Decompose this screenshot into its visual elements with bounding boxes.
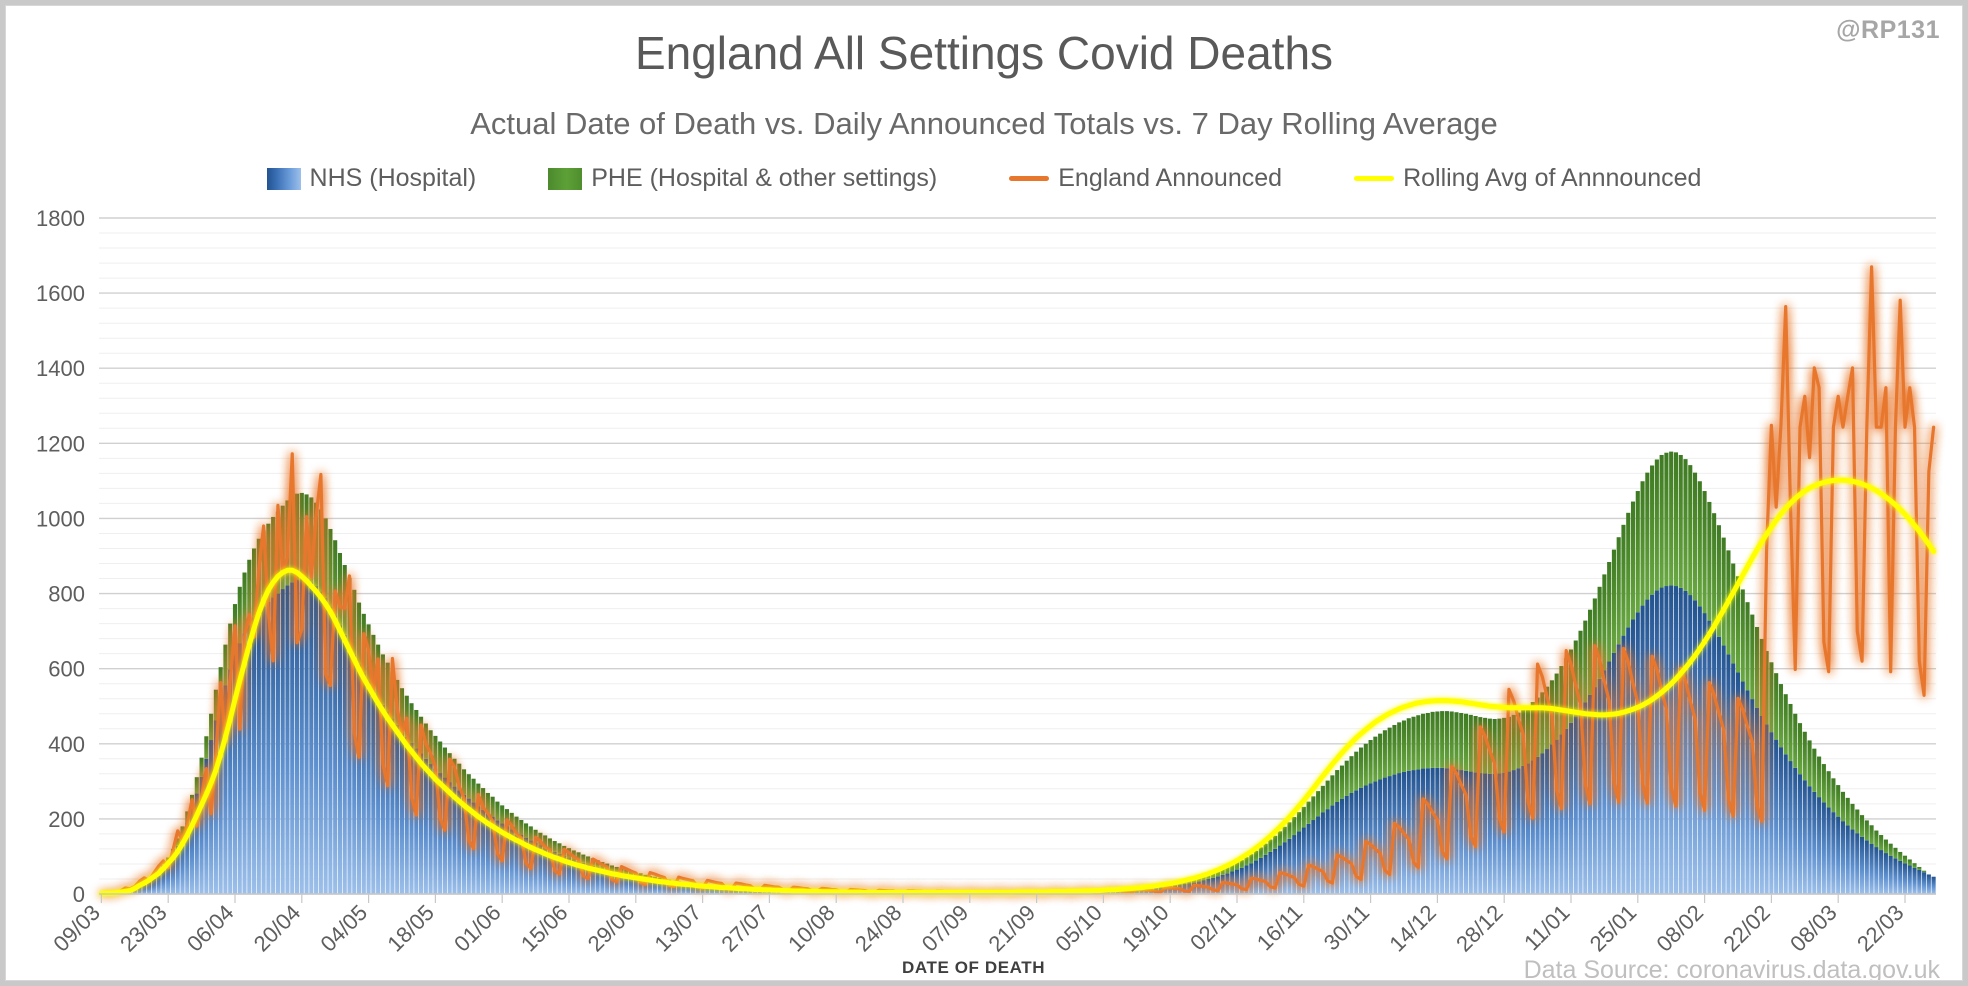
bar-phe [1903, 856, 1907, 864]
bar-phe [1459, 713, 1463, 770]
bar-phe [610, 865, 614, 871]
bar-phe [1626, 513, 1630, 628]
bar-phe [1779, 684, 1783, 747]
bar-phe [1364, 744, 1368, 786]
bar-phe [1922, 871, 1926, 873]
bar-phe [1860, 815, 1864, 837]
bar-nhs [1311, 820, 1315, 894]
bar-phe [1321, 786, 1325, 813]
x-tick-label: 28/12 [1451, 900, 1508, 957]
bar-nhs [1440, 768, 1444, 894]
bar-phe [1450, 711, 1454, 768]
x-tick-label: 29/06 [583, 900, 640, 957]
bar-phe [1855, 810, 1859, 834]
bar-phe [1870, 825, 1874, 843]
bar-phe [223, 645, 227, 686]
bar-nhs [1765, 724, 1769, 894]
bar-nhs [147, 882, 151, 894]
bar-phe [1908, 859, 1912, 865]
bar-nhs [1574, 716, 1578, 894]
bar-nhs [309, 582, 313, 894]
bar-phe [386, 663, 390, 712]
data-source-credit: Data Source: coronavirus.data.gov.uk [1524, 956, 1940, 980]
bar-phe [1340, 766, 1344, 799]
bar-nhs [1870, 844, 1874, 894]
bar-phe [1612, 550, 1616, 653]
bar-phe [1316, 791, 1320, 816]
bar-nhs [343, 635, 347, 894]
bar-nhs [281, 589, 285, 894]
bar-nhs [1798, 774, 1802, 894]
bar-phe [1469, 715, 1473, 772]
bar-phe [1750, 615, 1754, 700]
bar-phe [1774, 673, 1778, 739]
bar-phe [1703, 491, 1707, 613]
bar-nhs [1879, 850, 1883, 894]
bar-phe [1822, 764, 1826, 802]
bar-phe [529, 826, 533, 840]
bar-phe [1617, 537, 1621, 644]
bar-nhs [1598, 679, 1602, 894]
bar-phe [1583, 621, 1587, 703]
bar-nhs [1307, 824, 1311, 894]
bar-phe [204, 736, 208, 759]
bar-phe [1369, 740, 1373, 783]
bar-nhs [1788, 761, 1792, 894]
bar-phe [1411, 717, 1415, 770]
bar-nhs [1932, 877, 1936, 894]
bar-phe [1793, 714, 1797, 768]
x-tick-label: 20/04 [249, 900, 306, 957]
y-tick-label: 1400 [36, 356, 85, 381]
bar-phe [1669, 452, 1673, 586]
x-tick-label: 16/11 [1252, 900, 1307, 955]
bar-nhs [1369, 783, 1373, 894]
bar-nhs [1569, 723, 1573, 894]
bar-phe [1741, 589, 1745, 681]
bar-nhs [1516, 768, 1520, 894]
bar-nhs [1717, 637, 1721, 894]
bar-phe [1912, 863, 1916, 868]
bar-phe [1249, 854, 1253, 863]
bar-phe [495, 802, 499, 821]
bar-nhs [1884, 853, 1888, 894]
bar-phe [1297, 812, 1301, 831]
bar-nhs [1407, 771, 1411, 894]
bar-phe [1254, 851, 1258, 861]
bar-phe [1788, 704, 1792, 761]
bar-phe [1326, 781, 1330, 810]
bar-phe [414, 710, 418, 748]
bar-nhs [1488, 774, 1492, 894]
y-tick-label: 1800 [36, 206, 85, 231]
bar-phe [1769, 662, 1773, 732]
bar-phe [338, 553, 342, 625]
bar-nhs [257, 612, 261, 894]
bar-nhs [1908, 865, 1912, 894]
bar-phe [1407, 718, 1411, 771]
bar-nhs [1283, 842, 1287, 894]
x-tick-label: 01/06 [449, 900, 506, 957]
bar-phe [581, 855, 585, 863]
bar-phe [1812, 749, 1816, 792]
bar-nhs [1364, 785, 1368, 894]
y-tick-label: 800 [48, 582, 85, 607]
bar-phe [1392, 725, 1396, 775]
bar-phe [1311, 796, 1315, 820]
bar-phe [409, 703, 413, 743]
bar-nhs [367, 681, 371, 894]
chart-svg: 02004006008001000120014001600180009/0323… [6, 6, 1962, 980]
bar-phe [1383, 730, 1387, 777]
bar-nhs [1373, 781, 1377, 894]
bar-nhs [1846, 825, 1850, 894]
bar-nhs [1769, 732, 1773, 894]
bar-phe [1440, 711, 1444, 768]
bar-phe [1345, 761, 1349, 796]
bar-phe [1421, 714, 1425, 769]
bar-nhs [1383, 778, 1387, 894]
bar-phe [1898, 852, 1902, 861]
bar-phe [1874, 831, 1878, 848]
bar-phe [1831, 778, 1835, 812]
bar-nhs [266, 602, 270, 894]
y-tick-label: 1200 [36, 431, 85, 456]
bar-nhs [1841, 821, 1845, 894]
bar-phe [1335, 770, 1339, 802]
x-tick-label: 27/07 [716, 900, 773, 957]
bar-nhs [347, 645, 351, 894]
bar-phe [1707, 502, 1711, 621]
bar-phe [1641, 481, 1645, 605]
bar-phe [1803, 732, 1807, 780]
bar-nhs [1235, 870, 1239, 894]
bar-nhs [424, 759, 428, 894]
bar-phe [1688, 465, 1692, 595]
bar-nhs [1335, 802, 1339, 894]
bar-phe [586, 856, 590, 864]
bar-phe [1435, 711, 1439, 767]
bar-phe [1850, 804, 1854, 830]
bar-phe [1307, 802, 1311, 824]
bar-nhs [1521, 766, 1525, 894]
bar-phe [1497, 719, 1501, 774]
bar-nhs [252, 618, 256, 894]
bar-nhs [390, 718, 394, 894]
bar-nhs [1712, 628, 1716, 894]
bar-phe [1798, 723, 1802, 774]
bar-phe [472, 779, 476, 803]
bar-nhs [1454, 769, 1458, 894]
bar-phe [1879, 835, 1883, 850]
bar-phe [328, 529, 332, 606]
bar-nhs [1793, 768, 1797, 894]
bar-phe [1431, 712, 1435, 768]
bar-phe [1645, 473, 1649, 600]
bar-nhs [1340, 799, 1344, 894]
bar-phe [1817, 757, 1821, 798]
bar-nhs [1855, 833, 1859, 894]
bar-phe [1745, 602, 1749, 690]
chart-canvas: 02004006008001000120014001600180009/0323… [6, 6, 1962, 980]
bar-phe [1264, 844, 1268, 855]
bar-phe [1474, 716, 1478, 772]
bar-phe [1683, 459, 1687, 591]
bar-phe [1846, 798, 1850, 825]
bar-nhs [1564, 729, 1568, 894]
bar-nhs [1836, 817, 1840, 894]
bar-nhs [1278, 846, 1282, 894]
x-tick-label: 11/01 [1519, 900, 1574, 955]
bar-nhs [152, 879, 156, 894]
bar-phe [1292, 817, 1296, 835]
bar-nhs [1545, 749, 1549, 894]
bar-nhs [1321, 813, 1325, 895]
bar-nhs [1411, 770, 1415, 894]
bar-phe [1526, 706, 1530, 763]
bar-nhs [319, 591, 323, 894]
x-tick-label: 08/03 [1785, 900, 1842, 957]
bar-phe [1607, 562, 1611, 662]
bar-nhs [1779, 747, 1783, 894]
bar-nhs [1917, 870, 1921, 894]
bar-nhs [285, 585, 289, 894]
bar-phe [1784, 694, 1788, 754]
bar-phe [1712, 513, 1716, 628]
bar-phe [1302, 807, 1306, 828]
x-tick-label: 21/09 [984, 900, 1041, 957]
bar-nhs [1397, 773, 1401, 894]
bar-nhs [371, 690, 375, 894]
bar-nhs [219, 702, 223, 894]
bar-nhs [1808, 786, 1812, 894]
bar-phe [1674, 452, 1678, 586]
bar-nhs [1292, 835, 1296, 894]
bar-nhs [1850, 829, 1854, 894]
bar-phe [357, 603, 361, 665]
x-tick-label: 19/10 [1117, 900, 1174, 957]
bar-phe [1512, 715, 1516, 770]
y-tick-label: 600 [48, 657, 85, 682]
bar-nhs [1197, 881, 1201, 894]
bar-nhs [1316, 816, 1320, 894]
bar-phe [1602, 574, 1606, 670]
x-tick-label: 09/03 [48, 900, 105, 957]
bar-phe [1865, 820, 1869, 840]
bar-phe [1755, 627, 1759, 708]
bar-phe [1636, 491, 1640, 612]
bar-nhs [452, 787, 456, 894]
x-tick-label: 10/08 [783, 900, 840, 957]
bar-phe [1349, 756, 1353, 793]
bar-phe [1808, 740, 1812, 786]
bar-phe [1650, 465, 1654, 594]
bar-phe [1836, 785, 1840, 817]
bar-phe [1273, 836, 1277, 849]
y-axis-labels: 020040060080010001200140016001800 [36, 206, 85, 907]
bar-phe [1378, 734, 1382, 780]
bar-nhs [1259, 858, 1263, 894]
bar-phe [1388, 728, 1392, 776]
bar-nhs [1898, 861, 1902, 894]
x-tick-label: 25/01 [1585, 900, 1642, 957]
bar-phe [500, 805, 504, 823]
x-tick-label: 15/06 [516, 900, 573, 957]
bar-phe [1283, 827, 1287, 842]
bar-nhs [290, 582, 294, 894]
x-tick-label: 23/03 [115, 900, 172, 957]
bar-nhs [305, 580, 309, 894]
x-tick-label: 30/11 [1319, 900, 1374, 955]
bar-phe [1244, 857, 1248, 865]
bar-phe [1917, 867, 1921, 870]
bar-nhs [276, 594, 280, 894]
bar-nhs [395, 725, 399, 894]
bar-phe [1287, 822, 1291, 839]
bar-nhs [1803, 780, 1807, 894]
x-tick-label: 24/08 [850, 900, 907, 957]
bar-nhs [1631, 619, 1635, 894]
bar-nhs [1827, 807, 1831, 894]
bar-phe [1693, 473, 1697, 601]
bar-nhs [1784, 754, 1788, 894]
bar-nhs [1483, 773, 1487, 894]
bar-nhs [1822, 802, 1826, 894]
x-axis-title: DATE OF DEATH [902, 958, 1045, 978]
bar-phe [1722, 538, 1726, 646]
bar-nhs [1602, 670, 1606, 894]
bar-nhs [1378, 779, 1382, 894]
bar-phe [1330, 775, 1334, 805]
bar-phe [1698, 481, 1702, 606]
y-tick-label: 400 [48, 732, 85, 757]
bar-nhs [338, 625, 342, 894]
bar-nhs [1774, 740, 1778, 894]
bar-nhs [1889, 856, 1893, 894]
bar-phe [1464, 714, 1468, 771]
bar-nhs [1927, 874, 1931, 894]
bar-phe [519, 820, 523, 835]
bar-phe [1588, 610, 1592, 695]
bar-nhs [1812, 792, 1816, 894]
x-tick-label: 22/02 [1718, 900, 1775, 957]
x-tick-label: 06/04 [182, 900, 239, 957]
bar-nhs [1750, 699, 1754, 894]
bar-phe [1445, 711, 1449, 768]
bar-phe [1268, 840, 1272, 852]
x-tick-label: 05/10 [1050, 900, 1107, 957]
bar-nhs [1831, 812, 1835, 894]
bar-nhs [1860, 837, 1864, 894]
bar-nhs [1893, 858, 1897, 894]
bar-nhs [247, 625, 251, 894]
bar-nhs [429, 764, 433, 894]
bar-nhs [1426, 768, 1430, 894]
bar-phe [1426, 713, 1430, 768]
bar-phe [238, 587, 242, 643]
y-tick-label: 1600 [36, 281, 85, 306]
bar-phe [1621, 525, 1625, 636]
bar-phe [443, 748, 447, 778]
bar-nhs [1874, 847, 1878, 894]
bar-phe [1373, 737, 1377, 782]
bar-nhs [1912, 868, 1916, 894]
bar-phe [1402, 720, 1406, 771]
bar-phe [1655, 459, 1659, 590]
bar-nhs [262, 606, 266, 894]
bar-nhs [209, 740, 213, 894]
bar-nhs [1922, 872, 1926, 894]
bar-phe [1884, 840, 1888, 854]
bar-phe [1827, 771, 1831, 807]
bar-nhs [1345, 796, 1349, 894]
bar-phe [195, 777, 199, 793]
bar-phe [1664, 453, 1668, 586]
bar-nhs [1865, 840, 1869, 894]
y-tick-label: 1000 [36, 506, 85, 531]
bar-phe [1397, 722, 1401, 773]
bar-phe [491, 797, 495, 817]
bar-nhs [1540, 753, 1544, 894]
bar-nhs [1507, 772, 1511, 894]
bar-nhs [1817, 797, 1821, 894]
bar-phe [209, 714, 213, 740]
bar-phe [557, 843, 561, 854]
bar-phe [1631, 502, 1635, 620]
bar-nhs [314, 586, 318, 894]
bar-phe [1841, 792, 1845, 821]
bar-phe [1359, 748, 1363, 788]
bar-nhs [1287, 839, 1291, 894]
bar-phe [200, 758, 204, 777]
bar-nhs [1431, 768, 1435, 894]
bar-nhs [1264, 855, 1268, 894]
bar-nhs [1683, 591, 1687, 894]
bar-nhs [1388, 776, 1392, 894]
bar-phe [438, 742, 442, 774]
x-tick-label: 22/03 [1852, 900, 1909, 957]
x-axis-labels: 09/0323/0306/0420/0404/0518/0501/0615/06… [48, 894, 1908, 956]
bar-nhs [1688, 595, 1692, 894]
x-tick-label: 04/05 [316, 900, 373, 957]
bar-phe [467, 774, 471, 798]
bar-phe [1416, 715, 1420, 769]
bar-nhs [1550, 745, 1554, 894]
bar-nhs [1536, 757, 1540, 894]
x-tick-label: 02/11 [1185, 900, 1240, 955]
bar-nhs [1512, 770, 1516, 894]
x-tick-label: 14/12 [1384, 900, 1441, 957]
x-tick-label: 08/02 [1652, 900, 1709, 957]
bar-phe [1889, 844, 1893, 856]
bar-nhs [376, 697, 380, 894]
bar-nhs [1660, 588, 1664, 894]
bar-nhs [457, 790, 461, 894]
bar-phe [1259, 847, 1263, 858]
x-tick-label: 18/05 [382, 900, 439, 957]
bar-nhs [333, 615, 337, 894]
bar-nhs [1583, 702, 1587, 894]
bar-nhs [1655, 591, 1659, 894]
x-tick-label: 13/07 [650, 900, 707, 957]
x-tick-label: 07/09 [917, 900, 974, 957]
bar-phe [1354, 752, 1358, 791]
y-tick-label: 200 [48, 807, 85, 832]
bar-nhs [1903, 863, 1907, 894]
bar-nhs [400, 731, 404, 894]
bar-phe [1540, 692, 1544, 753]
bar-phe [1660, 455, 1664, 588]
